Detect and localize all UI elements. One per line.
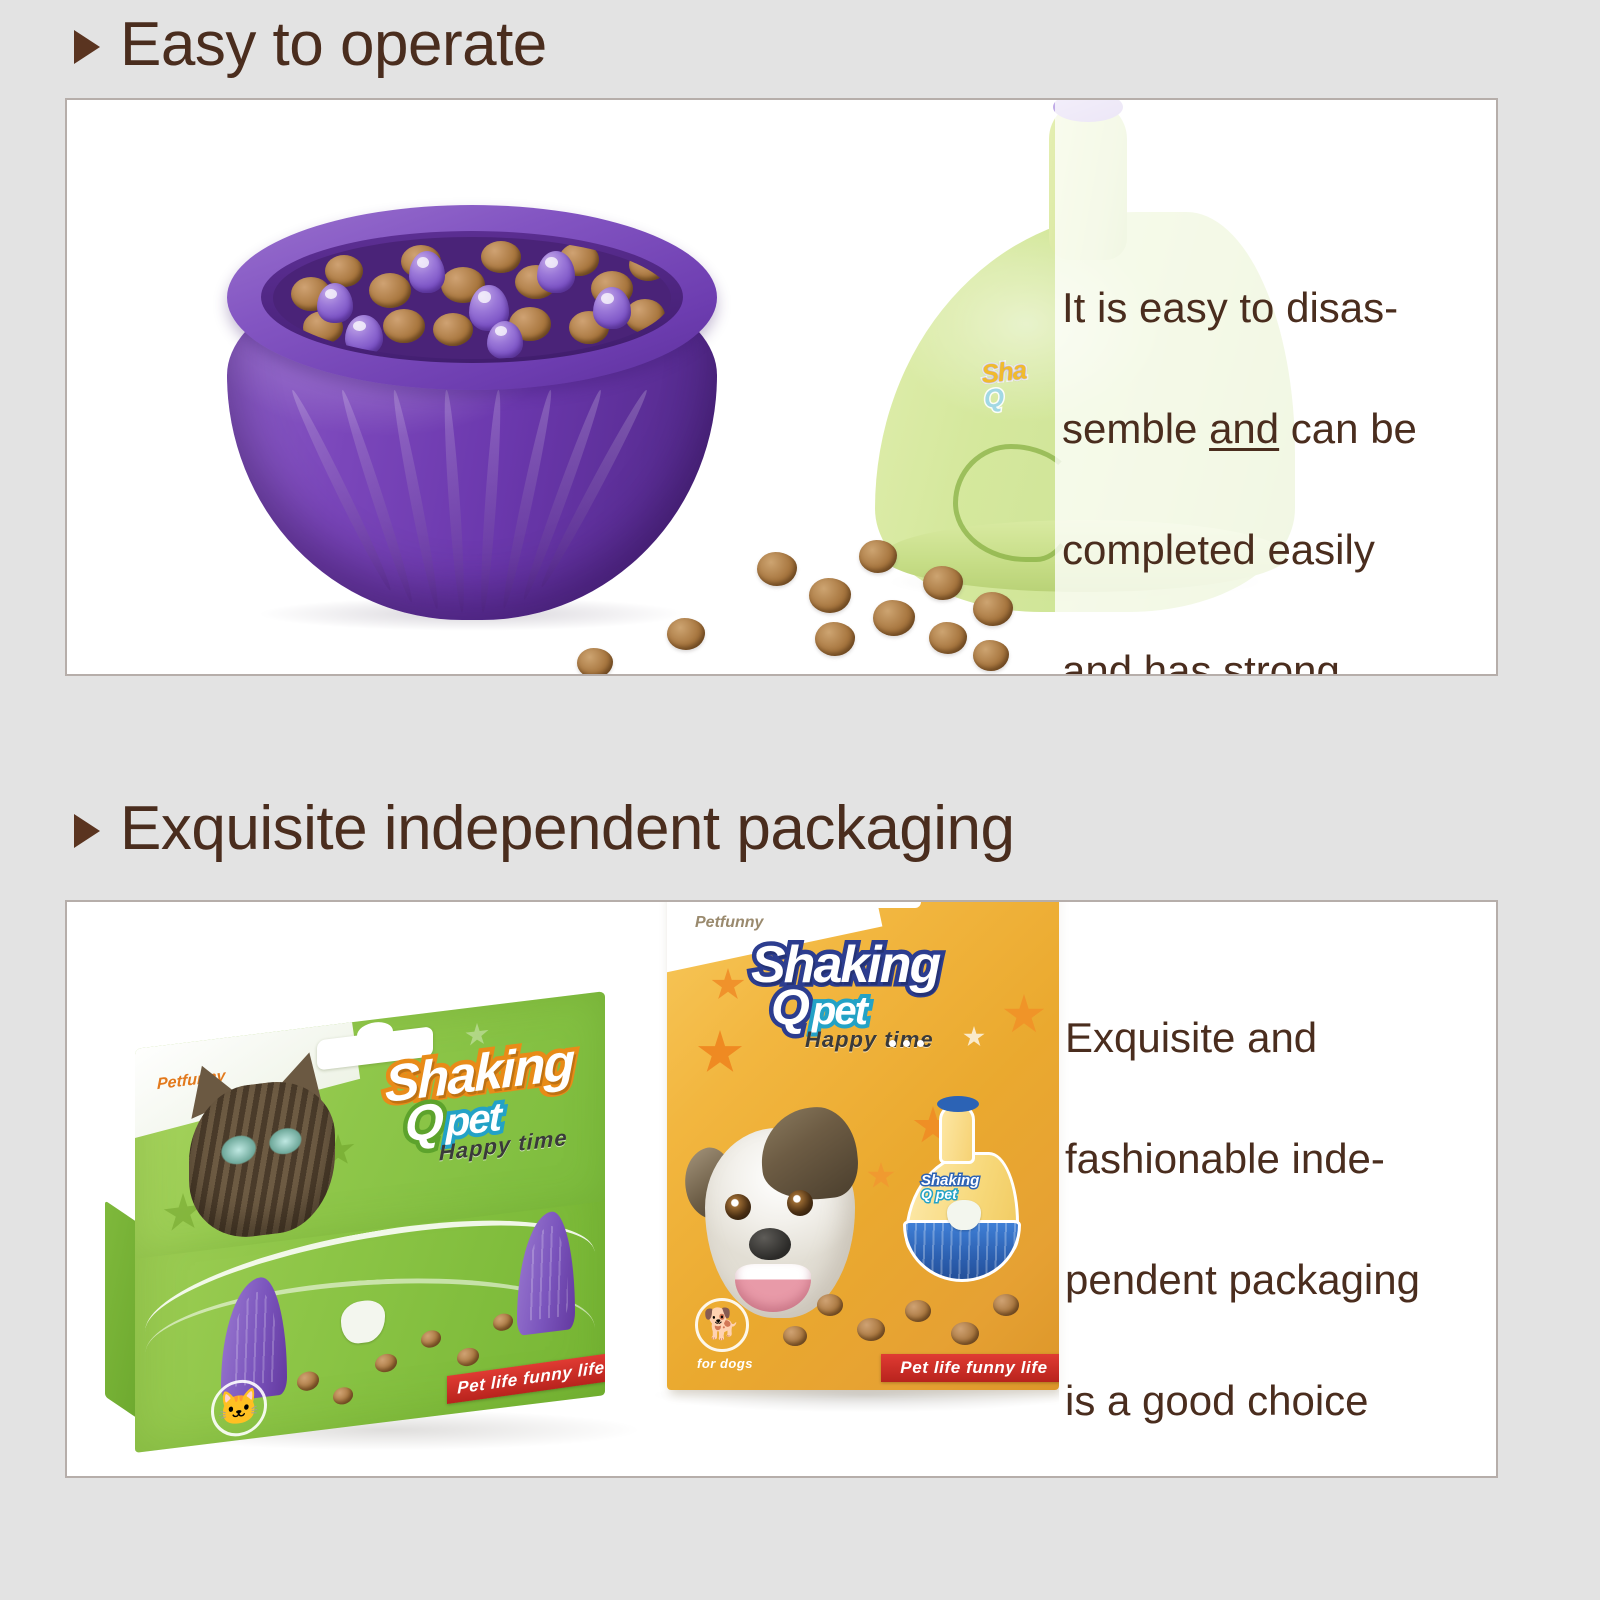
logo-dot-decoration	[889, 1040, 924, 1047]
section-heading-label: Exquisite independent packaging	[120, 798, 1015, 860]
dog-photo	[683, 1102, 883, 1330]
dog-box-bottom-banner: Pet life funny life	[881, 1354, 1059, 1382]
section-heading-easy-to-operate: Easy to operate	[74, 14, 547, 76]
copy-underlined-and: and	[1209, 405, 1279, 452]
cat-box-product-logo: Shaking Q pet Happy time	[385, 1039, 573, 1171]
copy-line-1: It is easy to disas-	[1062, 278, 1482, 338]
product-photo-panel-operate: Sha Q It is easy	[65, 98, 1498, 676]
dog-box-kibble	[905, 1300, 931, 1322]
product-detail-page: Easy to operate	[0, 0, 1600, 1600]
star-decoration	[963, 1026, 985, 1048]
dog-eye-left	[725, 1194, 751, 1220]
dog-box-cone-illustration: Shaking Q pet	[903, 1104, 1021, 1282]
cone-illustration-neck	[939, 1104, 975, 1164]
panel-2-copy: Exquisite and fashionable inde- pendent …	[1065, 948, 1495, 1478]
cat-retail-box: 🐱 for cats Pet life funny life Petfunny	[127, 1020, 657, 1440]
star-decoration	[697, 1030, 743, 1076]
dog-box-hang-tab	[825, 900, 921, 908]
dog-box-kibble	[951, 1322, 979, 1345]
cat-silhouette-icon: 🐱	[218, 1388, 260, 1427]
cone-mini-logo: Shaking Q pet	[921, 1174, 979, 1200]
section-heading-packaging: Exquisite independent packaging	[74, 798, 1015, 860]
dog-box-kibble	[857, 1318, 885, 1341]
dog-retail-box: Petfunny Shaking Q pet Happy time	[667, 900, 1059, 1390]
dog-box-kibble	[817, 1294, 843, 1316]
triangle-right-icon	[74, 814, 100, 848]
dog-nose	[749, 1228, 791, 1260]
bowl-food-fill	[273, 237, 671, 359]
triangle-right-icon	[74, 30, 100, 64]
dog-box-kibble	[783, 1326, 807, 1346]
dog-eye-right	[787, 1190, 813, 1216]
purple-slow-feeder-bowl	[227, 205, 717, 625]
product-photo-panel-packaging: 🐱 for cats Pet life funny life Petfunny	[65, 900, 1498, 1478]
copy-line-3: completed easily	[1062, 520, 1482, 580]
dog-silhouette-icon: 🐕	[703, 1310, 740, 1340]
dog-box-product-logo: Shaking Q pet Happy time	[751, 942, 939, 1051]
cat-box-kibble	[333, 1386, 353, 1405]
logo-word-pet: pet	[812, 993, 866, 1030]
copy-line-4: and has strong	[1062, 641, 1482, 676]
copy-line-4: is a good choice	[1065, 1371, 1495, 1431]
cone-mini-logo-line-2: Q pet	[921, 1188, 979, 1201]
panel-1-copy: It is easy to disas- semble and can be c…	[1062, 218, 1482, 676]
for-dogs-badge-caption: for dogs	[697, 1356, 753, 1371]
section-heading-label: Easy to operate	[120, 14, 547, 76]
logo-word-q: Q	[405, 1097, 442, 1148]
copy-line-3: pendent packaging	[1065, 1250, 1495, 1310]
copy-line-2: fashionable inde-	[1065, 1129, 1495, 1189]
logo-word-q: Q	[771, 984, 808, 1030]
copy-line-1: Exquisite and	[1065, 1008, 1495, 1068]
star-decoration	[1003, 994, 1045, 1036]
cone-feed-opening-icon	[947, 1200, 981, 1230]
cone-illustration-cap	[937, 1096, 979, 1112]
for-dogs-badge: 🐕	[695, 1298, 749, 1352]
copy-line-2: semble and can be	[1062, 399, 1482, 459]
star-decoration	[711, 968, 745, 1002]
dog-box-kibble	[993, 1294, 1019, 1316]
dog-box-brand-logo: Petfunny	[695, 914, 763, 932]
